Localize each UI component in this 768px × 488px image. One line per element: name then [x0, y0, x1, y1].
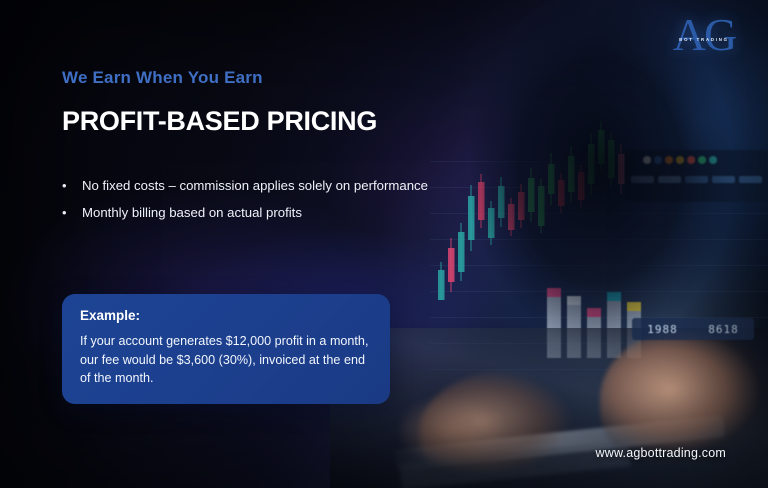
logo-monogram: AG: [662, 12, 746, 58]
list-item: •Monthly billing based on actual profits: [62, 205, 482, 221]
list-item: •No fixed costs – commission applies sol…: [62, 178, 482, 194]
promotional-slide: 1988 8618 AG BOT TRADING We Earn When Yo…: [0, 0, 768, 488]
bullet-dot-icon: •: [62, 178, 82, 194]
bullet-list: •No fixed costs – commission applies sol…: [62, 178, 482, 232]
website-url: www.agbottrading.com: [596, 446, 726, 460]
example-title: Example:: [80, 308, 372, 323]
example-callout: Example: If your account generates $12,0…: [62, 294, 390, 404]
brand-logo: AG BOT TRADING: [662, 12, 746, 62]
eyebrow-text: We Earn When You Earn: [62, 68, 263, 88]
list-item-label: Monthly billing based on actual profits: [82, 205, 302, 221]
example-body: If your account generates $12,000 profit…: [80, 332, 372, 388]
page-title: PROFIT-BASED PRICING: [62, 106, 377, 137]
bullet-dot-icon: •: [62, 205, 82, 221]
logo-subtitle: BOT TRADING: [662, 37, 746, 42]
list-item-label: No fixed costs – commission applies sole…: [82, 178, 428, 194]
